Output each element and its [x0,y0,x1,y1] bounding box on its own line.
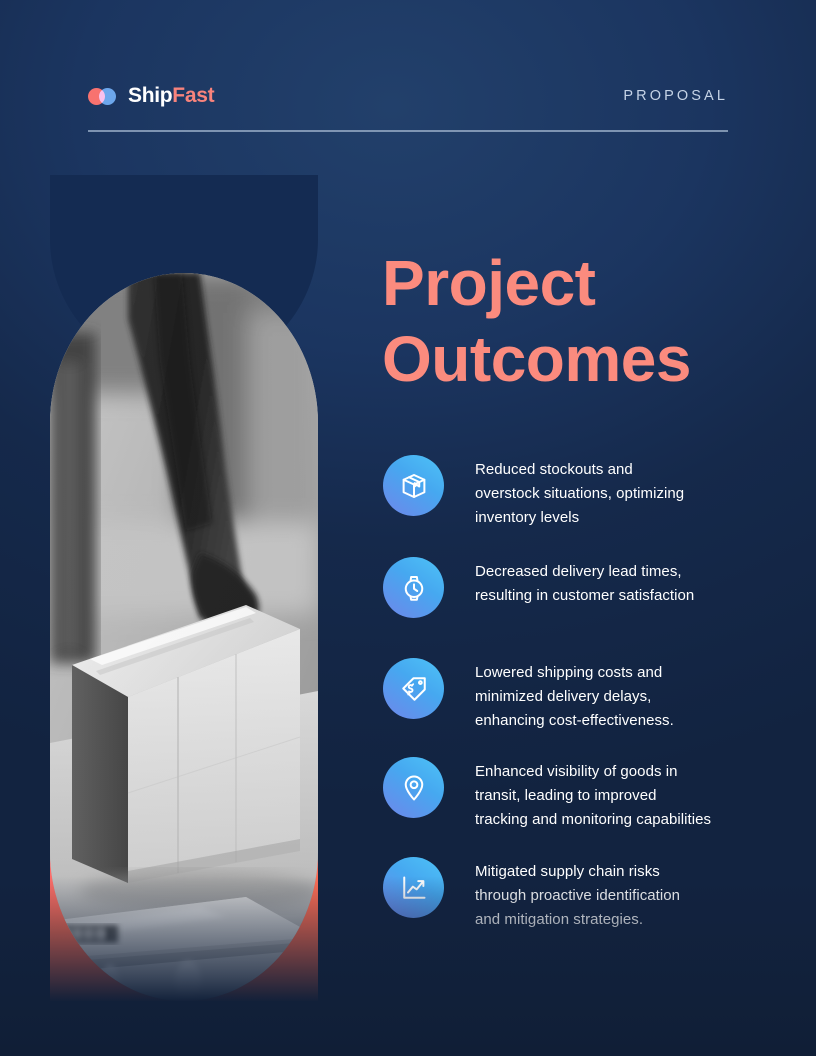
logo-wordmark: ShipFast [128,84,214,108]
page-header: ShipFast PROPOSAL [88,78,728,126]
hero-photo [50,273,318,1001]
brand-logo: ShipFast [88,84,214,108]
list-item: Decreased delivery lead times, resulting… [383,557,743,618]
package-box-icon [383,455,444,516]
logo-word-fast: Fast [172,84,214,107]
list-item-label: Enhanced visibility of goods in transit,… [475,757,711,832]
logo-dot-blue-icon [99,88,116,105]
list-item: Reduced stockouts and overstock situatio… [383,455,743,530]
logo-word-ship: Ship [128,84,172,107]
price-tag-dollar-icon [383,658,444,719]
list-item-label: Lowered shipping costs and minimized del… [475,658,674,733]
list-item: Lowered shipping costs and minimized del… [383,658,743,733]
list-item-label: Reduced stockouts and overstock situatio… [475,455,684,530]
list-item: Enhanced visibility of goods in transit,… [383,757,743,832]
document-type-label: PROPOSAL [623,88,728,104]
proposal-page: ShipFast PROPOSAL [0,0,816,1056]
location-pin-icon [383,757,444,818]
line-chart-growth-icon [383,857,444,918]
list-item-label: Mitigated supply chain risks through pro… [475,857,680,932]
outcomes-list: Reduced stockouts and overstock situatio… [383,455,743,932]
list-item: Mitigated supply chain risks through pro… [383,857,743,932]
hero-visual [50,175,318,1001]
main-content: Project Outcomes [382,245,742,397]
page-title: Project Outcomes [382,245,742,397]
stopwatch-icon [383,557,444,618]
logo-mark-icon [88,88,118,105]
header-divider [88,130,728,132]
list-item-label: Decreased delivery lead times, resulting… [475,557,694,608]
